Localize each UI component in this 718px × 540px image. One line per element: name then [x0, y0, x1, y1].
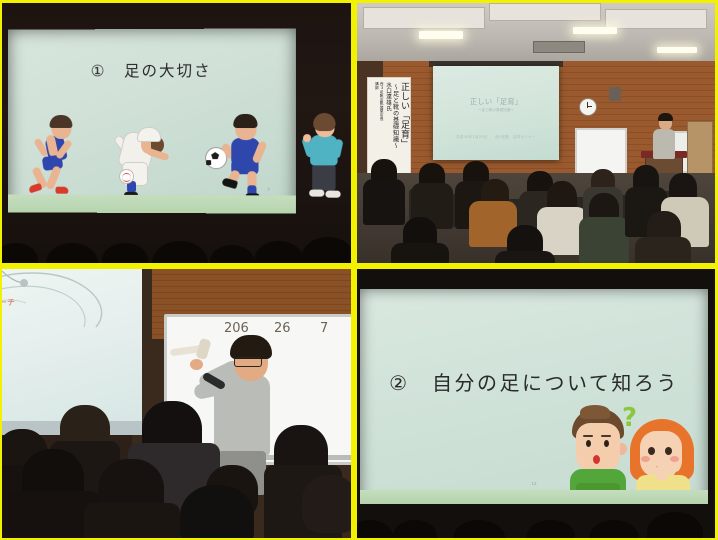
- panel-bottom-left: ーチ 206 26 7: [0, 266, 354, 540]
- ceiling-light: [419, 31, 463, 39]
- ceiling-vent: [533, 41, 585, 53]
- ceiling-light: [573, 27, 617, 34]
- banner-title: 正しい「足育」: [399, 82, 408, 149]
- banner-role-label: 講師: [375, 82, 379, 90]
- projection-screen-diagram: ーチ: [2, 269, 142, 427]
- slide1-page-number: 3: [267, 186, 269, 191]
- slide1-title: ① 足の大切さ: [8, 59, 296, 82]
- lecture-hall-scene: 正しい「足育」 〜足と靴の基礎知識〜 平成30年1月20日 西3足靴 店内セミナ…: [357, 3, 715, 263]
- runner-figure: [30, 115, 89, 199]
- panel-top-left: ① 足の大切さ: [0, 0, 354, 266]
- arch-label: ーチ: [2, 297, 15, 308]
- photo-collage: ① 足の大切さ: [0, 0, 718, 540]
- audience-silhouettes-br: [357, 468, 715, 538]
- wall-speaker-icon: [609, 87, 621, 101]
- banner-subtitle: 〜足と靴の基礎知識〜: [391, 84, 398, 149]
- door: [687, 121, 713, 181]
- hall-slide-subtitle: 〜足と靴の基礎知識〜: [433, 108, 559, 113]
- panel-bottom-right: ② 自分の足について知ろう ?: [354, 266, 718, 540]
- speaker-body: [653, 129, 675, 159]
- wall-clock-icon: [579, 98, 597, 116]
- glasses-icon: [234, 357, 262, 367]
- banner-speaker-name: 水口達雄氏: [384, 82, 390, 112]
- whiteboard-number-7: 7: [320, 321, 328, 336]
- demo-scene: ーチ 206 26 7: [2, 269, 351, 538]
- projection-screen-hall: 正しい「足育」 〜足と靴の基礎知識〜 平成30年1月20日 西3足靴 店内セミナ…: [433, 66, 559, 160]
- ceiling: [357, 3, 715, 65]
- slide1-figure-row: [8, 103, 296, 200]
- banner-affiliation: 西3足靴店靴装屋店長: [379, 82, 383, 120]
- speaker-hair: [658, 113, 673, 121]
- panel-top-right: 正しい「足育」 〜足と靴の基礎知識〜 平成30年1月20日 西3足靴 店内セミナ…: [354, 0, 718, 266]
- audience-silhouettes-tl: [2, 193, 351, 263]
- walking-woman-figure: [300, 113, 349, 200]
- baseball-pitcher-figure: [111, 117, 173, 199]
- hall-slide-date: 平成30年1月20日 西3足靴 店内セミナー: [433, 134, 559, 139]
- slide2-title: ② 自分の足について知ろう: [360, 367, 708, 396]
- soccer-player-figure: [219, 113, 282, 200]
- projection-screen-slide1: ① 足の大切さ: [8, 28, 296, 213]
- foot-bone-model: [170, 343, 214, 357]
- hall-slide-title: 正しい「足育」: [433, 96, 559, 107]
- foot-arch-diagram: [2, 269, 112, 329]
- ceiling-light: [657, 47, 697, 53]
